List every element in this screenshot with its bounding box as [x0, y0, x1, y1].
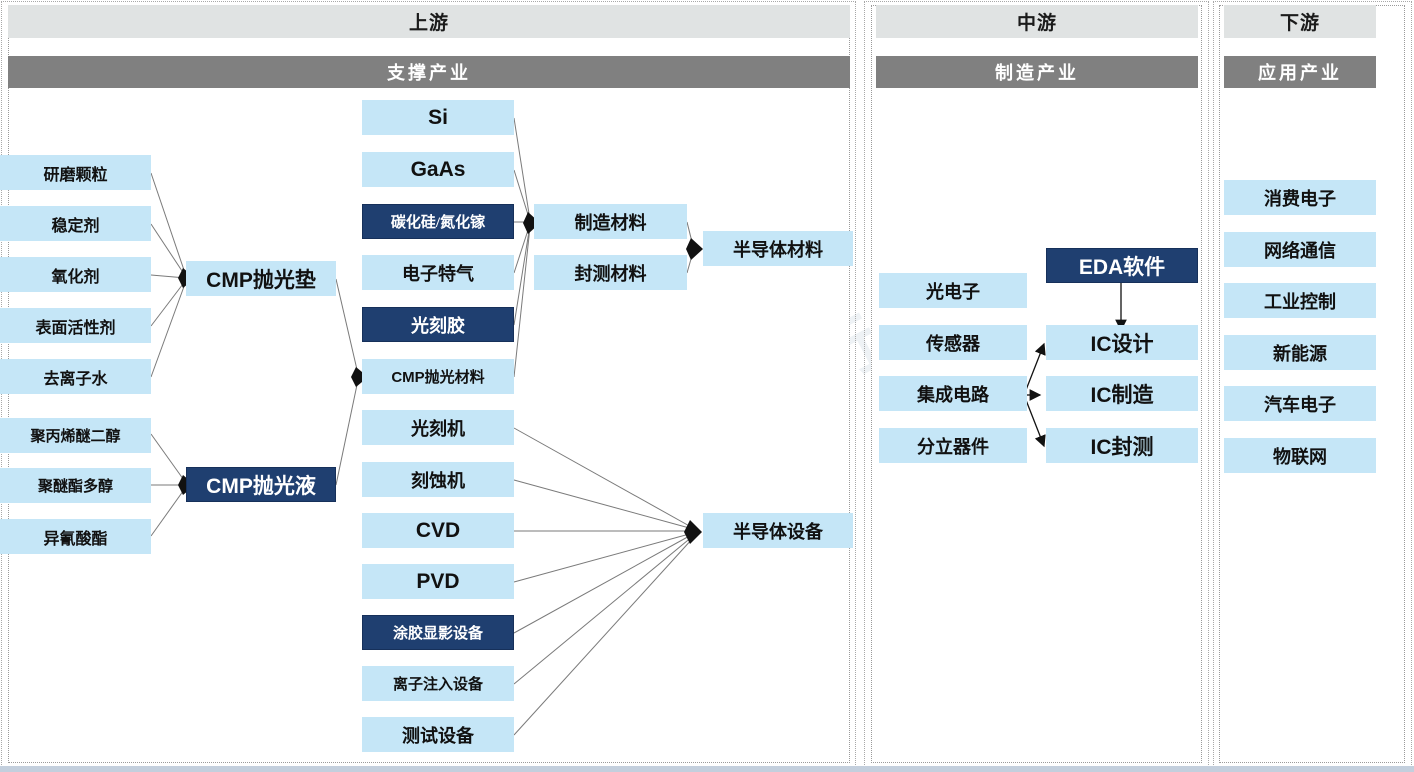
- node-label: 涂胶显影设备: [393, 622, 483, 643]
- node-label: CMP抛光材料: [391, 366, 484, 387]
- node-label: 制造材料: [575, 209, 647, 235]
- raw-material-node[interactable]: 聚丙烯醚二醇: [0, 418, 151, 453]
- downstream-node[interactable]: 网络通信: [1224, 232, 1376, 267]
- upstream-item-node[interactable]: 光刻胶: [362, 307, 514, 342]
- raw-material-node[interactable]: 稳定剂: [0, 206, 151, 241]
- downstream-node[interactable]: 工业控制: [1224, 283, 1376, 318]
- downstream-node[interactable]: 消费电子: [1224, 180, 1376, 215]
- upstream-item-node[interactable]: 离子注入设备: [362, 666, 514, 701]
- node-label: 汽车电子: [1264, 391, 1336, 417]
- node-label: 光电子: [926, 278, 980, 304]
- node-label: 稳定剂: [51, 212, 99, 236]
- diagram-canvas: 行行查 HangHangCha 行行查 上游 支撑产业 中游 制造产业 下游 应…: [0, 0, 1414, 772]
- downstream-node[interactable]: 新能源: [1224, 335, 1376, 370]
- node-label: 分立器件: [917, 433, 989, 459]
- raw-material-node[interactable]: 异氰酸酯: [0, 519, 151, 554]
- node-label: 光刻机: [411, 415, 465, 441]
- node-label: CVD: [416, 519, 460, 543]
- upstream-item-node[interactable]: 涂胶显影设备: [362, 615, 514, 650]
- node-label: PVD: [416, 570, 459, 594]
- node-label: GaAs: [411, 158, 466, 182]
- tier-header-upstream: 上游: [8, 5, 850, 38]
- midstream-right-node[interactable]: EDA软件: [1046, 248, 1198, 283]
- node-label: Si: [428, 106, 448, 130]
- node-label: IC封测: [1091, 431, 1154, 461]
- industry-header-midstream: 制造产业: [876, 56, 1198, 88]
- node-label: 集成电路: [917, 381, 989, 407]
- cmp-node[interactable]: CMP抛光垫: [186, 261, 336, 296]
- material-group-node[interactable]: 制造材料: [534, 204, 687, 239]
- upstream-item-node[interactable]: CVD: [362, 513, 514, 548]
- node-label: 电子特气: [402, 260, 474, 286]
- raw-material-node[interactable]: 去离子水: [0, 359, 151, 394]
- node-label: CMP抛光液: [206, 470, 316, 500]
- node-label: 物联网: [1273, 443, 1327, 469]
- raw-material-node[interactable]: 表面活性剂: [0, 308, 151, 343]
- upstream-item-node[interactable]: 刻蚀机: [362, 462, 514, 497]
- node-label: 测试设备: [402, 722, 474, 748]
- panel-downstream: [1219, 5, 1405, 763]
- downstream-node[interactable]: 汽车电子: [1224, 386, 1376, 421]
- midstream-right-node[interactable]: IC制造: [1046, 376, 1198, 411]
- node-label: 光刻胶: [411, 312, 465, 338]
- node-label: 表面活性剂: [35, 314, 115, 338]
- node-label: EDA软件: [1079, 251, 1165, 281]
- node-label: 刻蚀机: [411, 467, 465, 493]
- midstream-left-node[interactable]: 传感器: [879, 325, 1027, 360]
- industry-header-upstream: 支撑产业: [8, 56, 850, 88]
- raw-material-node[interactable]: 氧化剂: [0, 257, 151, 292]
- midstream-right-node[interactable]: IC封测: [1046, 428, 1198, 463]
- cmp-node[interactable]: CMP抛光液: [186, 467, 336, 502]
- node-label: CMP抛光垫: [206, 264, 316, 294]
- node-label: 工业控制: [1264, 288, 1336, 314]
- material-group-node[interactable]: 封测材料: [534, 255, 687, 290]
- tier-header-midstream: 中游: [876, 5, 1198, 38]
- upstream-item-node[interactable]: 测试设备: [362, 717, 514, 752]
- node-label: 去离子水: [43, 365, 107, 389]
- upstream-item-node[interactable]: GaAs: [362, 152, 514, 187]
- midstream-left-node[interactable]: 集成电路: [879, 376, 1027, 411]
- upstream-item-node[interactable]: 碳化硅/氮化镓: [362, 204, 514, 239]
- node-label: 异氰酸酯: [43, 525, 107, 549]
- raw-material-node[interactable]: 研磨颗粒: [0, 155, 151, 190]
- midstream-right-node[interactable]: IC设计: [1046, 325, 1198, 360]
- upstream-total-node[interactable]: 半导体设备: [703, 513, 853, 548]
- industry-header-downstream: 应用产业: [1224, 56, 1376, 88]
- tier-header-downstream: 下游: [1224, 5, 1376, 38]
- node-label: 新能源: [1273, 340, 1327, 366]
- node-label: 聚丙烯醚二醇: [30, 425, 120, 446]
- upstream-total-node[interactable]: 半导体材料: [703, 231, 853, 266]
- node-label: 消费电子: [1264, 185, 1336, 211]
- midstream-left-node[interactable]: 光电子: [879, 273, 1027, 308]
- node-label: 聚醚酯多醇: [38, 475, 113, 496]
- node-label: 碳化硅/氮化镓: [391, 211, 485, 232]
- raw-material-node[interactable]: 聚醚酯多醇: [0, 468, 151, 503]
- node-label: 封测材料: [575, 260, 647, 286]
- upstream-item-node[interactable]: Si: [362, 100, 514, 135]
- node-label: 传感器: [926, 330, 980, 356]
- upstream-item-node[interactable]: CMP抛光材料: [362, 359, 514, 394]
- upstream-item-node[interactable]: 光刻机: [362, 410, 514, 445]
- node-label: 半导体材料: [733, 236, 823, 262]
- upstream-item-node[interactable]: PVD: [362, 564, 514, 599]
- node-label: IC设计: [1091, 328, 1154, 358]
- midstream-left-node[interactable]: 分立器件: [879, 428, 1027, 463]
- node-label: 氧化剂: [51, 263, 99, 287]
- node-label: 研磨颗粒: [43, 161, 107, 185]
- node-label: 网络通信: [1264, 237, 1336, 263]
- downstream-node[interactable]: 物联网: [1224, 438, 1376, 473]
- upstream-item-node[interactable]: 电子特气: [362, 255, 514, 290]
- bottom-accent-bar: [0, 766, 1414, 772]
- node-label: 半导体设备: [733, 518, 823, 544]
- node-label: 离子注入设备: [393, 673, 483, 694]
- node-label: IC制造: [1091, 379, 1154, 409]
